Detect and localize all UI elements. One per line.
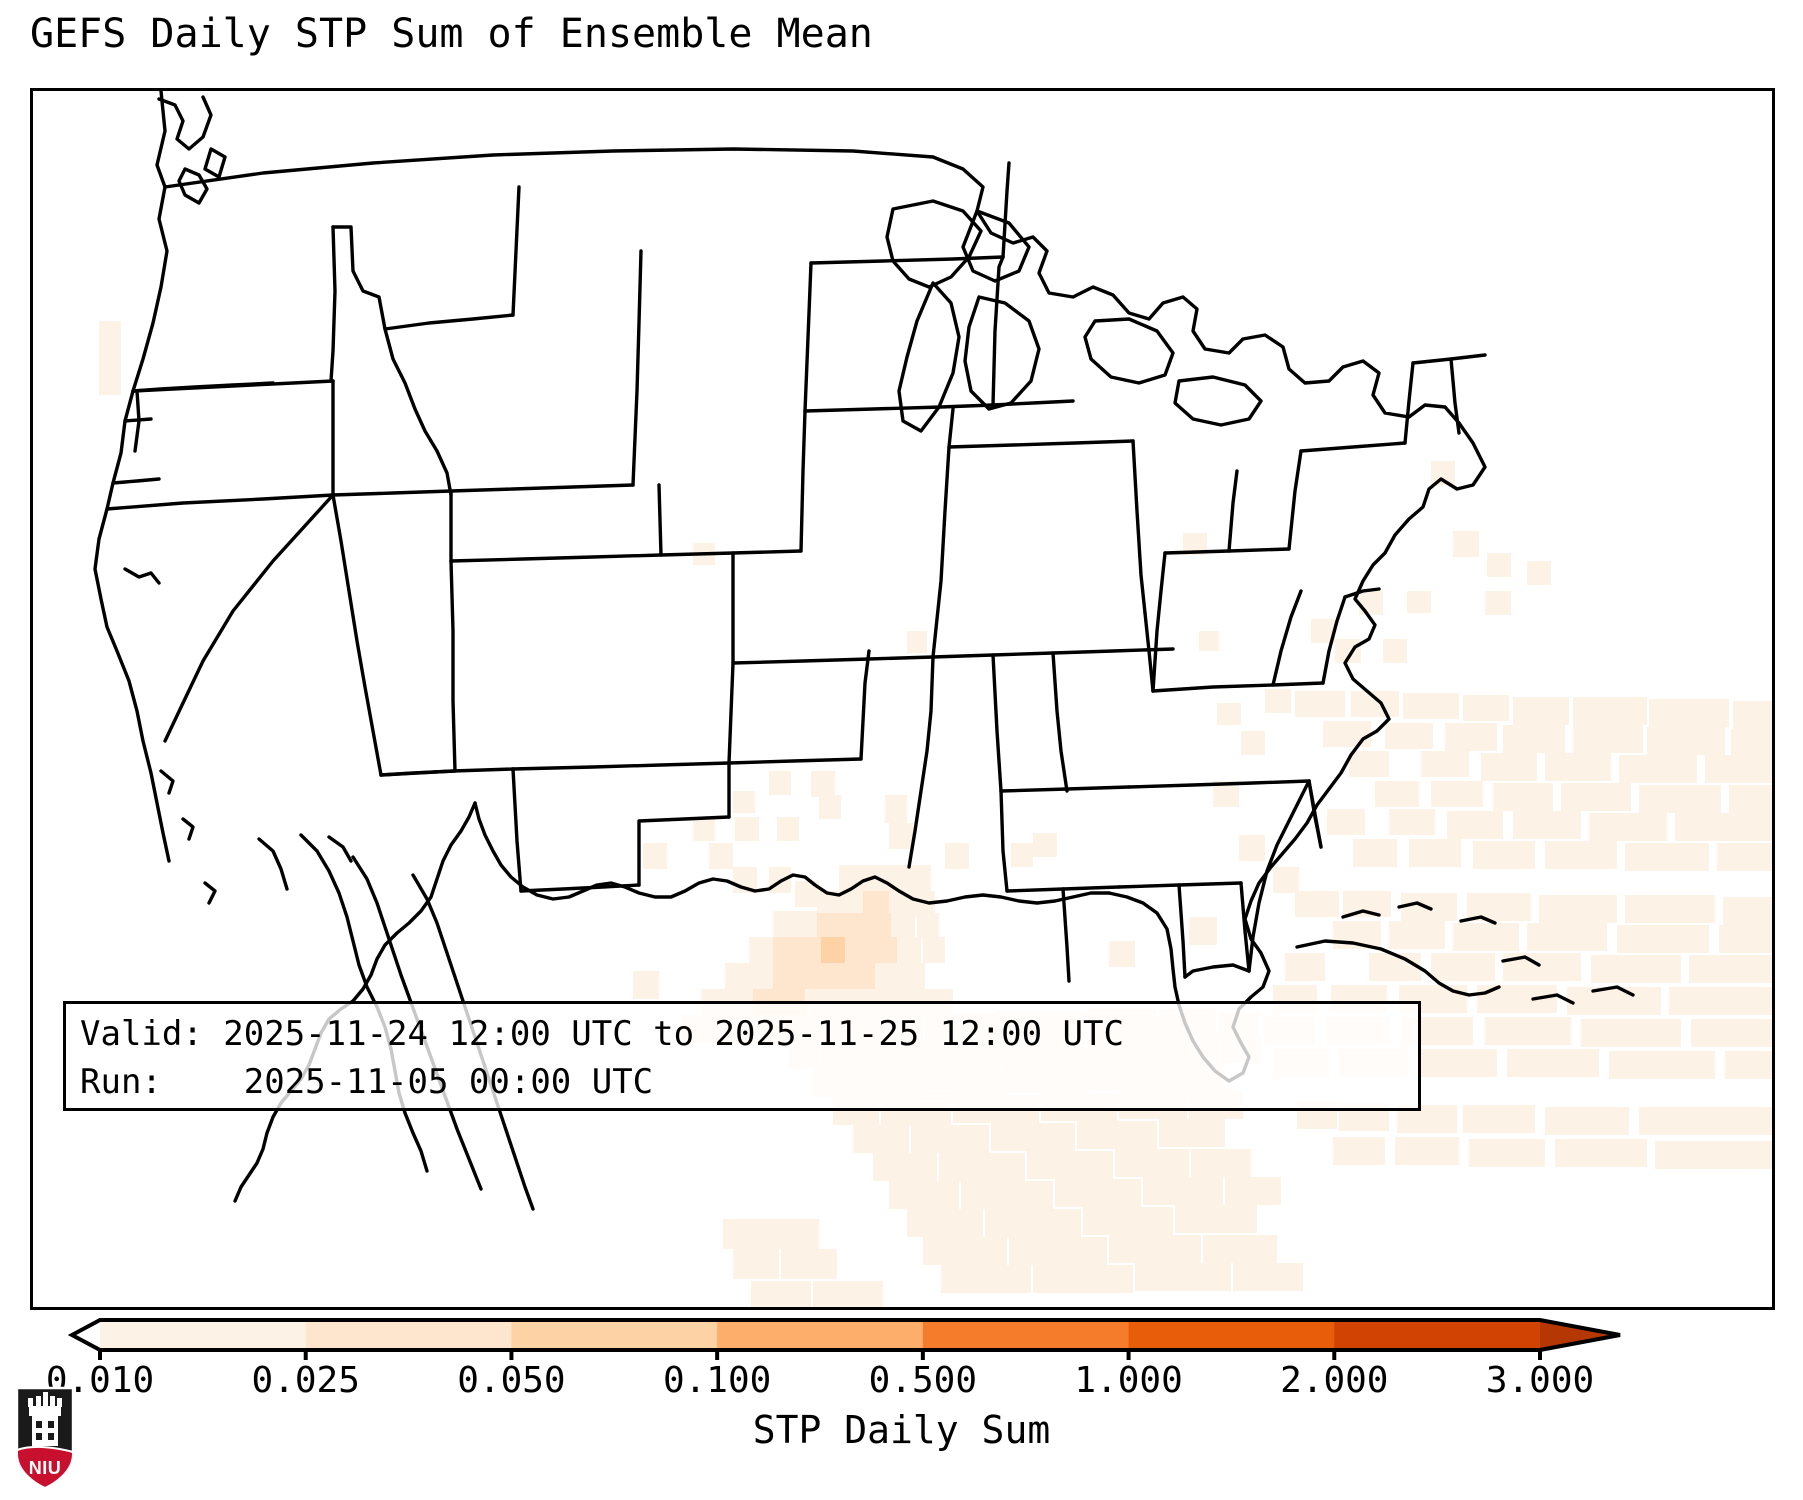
run-line: Run: 2025-11-05 00:00 UTC <box>80 1058 1404 1106</box>
colorbar-band <box>100 1320 306 1350</box>
colorbar-tick-label: 0.500 <box>869 1360 977 1401</box>
colorbar-tick-label: 1.000 <box>1074 1360 1182 1401</box>
colorbar-axis-title: STP Daily Sum <box>0 1408 1803 1452</box>
colorbar-tick-labels: 0.0100.0250.0500.1000.5001.0002.0003.000 <box>0 1360 1803 1410</box>
colorbar-svg[interactable] <box>0 1316 1803 1362</box>
page-title: GEFS Daily STP Sum of Ensemble Mean <box>30 14 873 54</box>
colorbar-band <box>511 1320 717 1350</box>
colorbar-band <box>717 1320 923 1350</box>
colorbar-tick-label: 0.100 <box>663 1360 771 1401</box>
colorbar-tick-label: 0.025 <box>252 1360 360 1401</box>
valid-run-annotation-box: Valid: 2025-11-24 12:00 UTC to 2025-11-2… <box>63 1001 1421 1111</box>
colorbar-band <box>923 1320 1129 1350</box>
colorbar-tick-label: 3.000 <box>1486 1360 1594 1401</box>
colorbar-band <box>1334 1320 1540 1350</box>
colorbar-band <box>306 1320 512 1350</box>
niu-logo: NIU <box>14 1386 76 1490</box>
colorbar[interactable] <box>0 1316 1803 1362</box>
niu-wordmark: NIU <box>29 1458 62 1478</box>
map-panel: Valid: 2025-11-24 12:00 UTC to 2025-11-2… <box>30 88 1775 1310</box>
colorbar-tick-label: 2.000 <box>1280 1360 1388 1401</box>
valid-line: Valid: 2025-11-24 12:00 UTC to 2025-11-2… <box>80 1010 1404 1058</box>
us-map-geography <box>33 91 1772 1307</box>
colorbar-tick-label: 0.050 <box>457 1360 565 1401</box>
colorbar-over-arrow <box>1540 1320 1620 1350</box>
colorbar-band <box>1129 1320 1335 1350</box>
